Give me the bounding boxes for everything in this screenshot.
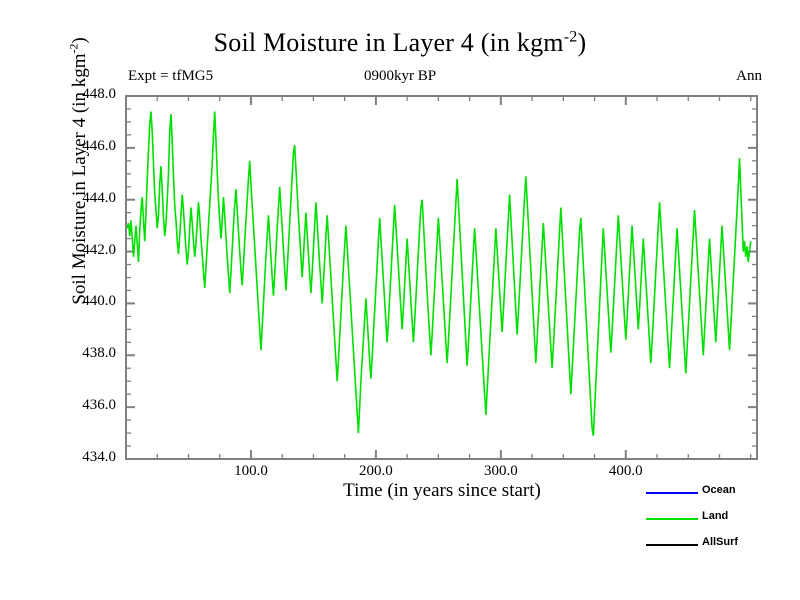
y-axis-tick-label: 436.0 — [54, 397, 116, 414]
y-axis-tick-label: 446.0 — [54, 138, 116, 155]
legend-swatch-land — [646, 518, 698, 520]
chart-figure: Soil Moisture in Layer 4 (in kgm-2) 0900… — [0, 0, 800, 600]
chart-title-main: Soil Moisture in Layer 4 (in kgm — [214, 28, 564, 57]
y-axis-tick-label: 448.0 — [54, 86, 116, 103]
legend-label: Land — [702, 510, 728, 522]
chart-title-tail: ) — [578, 28, 587, 57]
legend-swatch-ocean — [646, 492, 698, 494]
legend-item-ocean[interactable]: Ocean — [640, 482, 790, 508]
legend-label: Ocean — [702, 484, 736, 496]
y-axis-title: Soil Moisture in Layer 4 (in kgm-2) — [69, 0, 91, 371]
chart-subtitle: 0900kyr BP — [0, 68, 800, 85]
experiment-label: Expt = tfMG5 — [128, 68, 213, 85]
x-axis-tick-label: 300.0 — [466, 463, 536, 480]
chart-title: Soil Moisture in Layer 4 (in kgm-2) — [0, 28, 800, 58]
y-axis-tick-label: 440.0 — [54, 293, 116, 310]
x-axis-tick-label: 100.0 — [216, 463, 286, 480]
x-axis-tick-label: 400.0 — [591, 463, 661, 480]
y-axis-tick-label: 442.0 — [54, 242, 116, 259]
y-axis-tick-label: 444.0 — [54, 190, 116, 207]
legend-item-land[interactable]: Land — [640, 508, 790, 534]
series-line-land — [127, 112, 751, 436]
y-axis-title-superscript: -2 — [68, 44, 81, 54]
y-axis-tick-label: 438.0 — [54, 345, 116, 362]
x-axis-tick-label: 200.0 — [341, 463, 411, 480]
chart-legend: OceanLandAllSurf — [640, 482, 790, 560]
legend-item-allsurf[interactable]: AllSurf — [640, 534, 790, 560]
legend-swatch-allsurf — [646, 544, 698, 546]
chart-title-superscript: -2 — [564, 28, 578, 45]
y-axis-tick-label: 434.0 — [54, 449, 116, 466]
annotation-ann-label: Ann — [736, 68, 762, 85]
legend-label: AllSurf — [702, 536, 738, 548]
